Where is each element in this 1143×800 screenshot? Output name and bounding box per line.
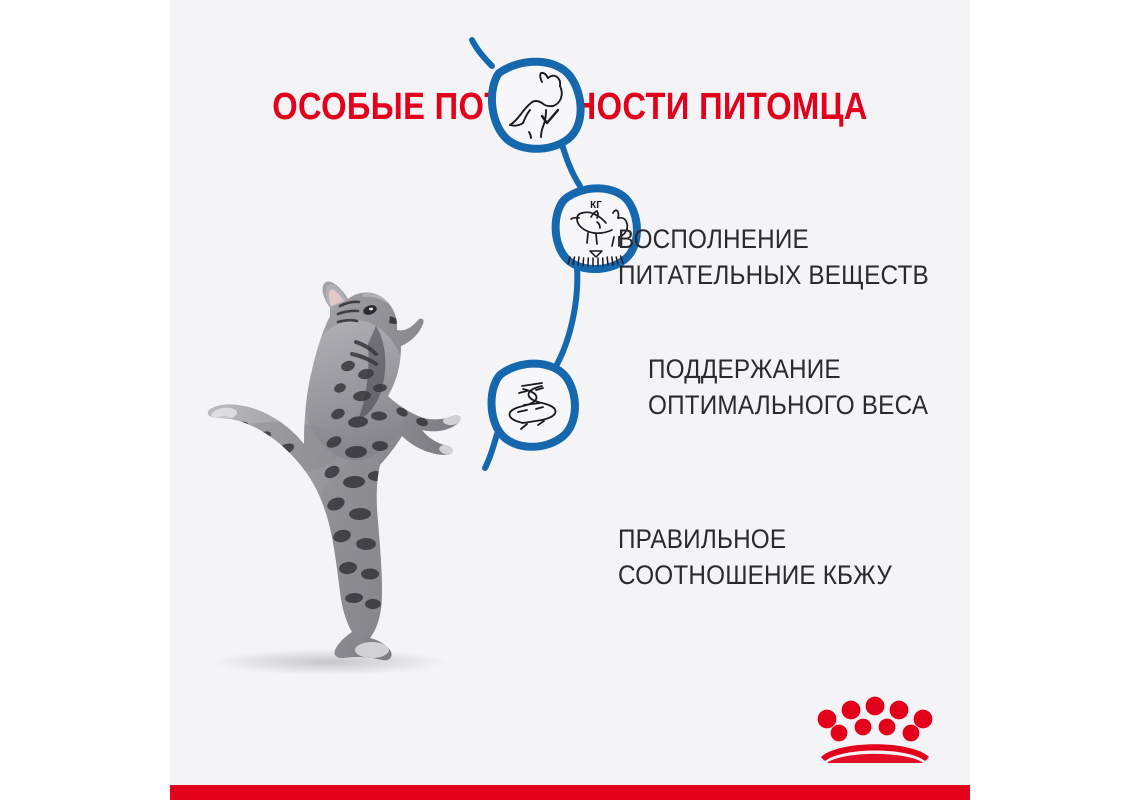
kg-caption: КГ xyxy=(590,200,602,211)
connector-1-2 xyxy=(561,141,580,186)
cat-photo xyxy=(180,270,530,690)
page-root: ОСОБЫЕ ПОТРЕБНОСТИ ПИТОМЦА xyxy=(0,0,1143,800)
page-title: ОСОБЫЕ ПОТРЕБНОСТИ ПИТОМЦА xyxy=(226,88,914,126)
feature-label-optimal-weight: ПОДДЕРЖАНИЕ ОПТИМАЛЬНОГО ВЕСА xyxy=(648,352,928,424)
connector-2-3 xyxy=(555,267,577,368)
feature-label-macronutrient-balance: ПРАВИЛЬНОЕ СООТНОШЕНИЕ КБЖУ xyxy=(618,522,892,594)
connector-top xyxy=(472,40,492,66)
feature-label-nutrient-replenishment: ВОСПОЛНЕНИЕ ПИТАТЕЛЬНЫХ ВЕЩЕСТВ xyxy=(618,222,929,294)
bottom-red-bar xyxy=(170,785,970,800)
royal-canin-crown-logo xyxy=(815,695,935,763)
creative-panel: ОСОБЫЕ ПОТРЕБНОСТИ ПИТОМЦА xyxy=(170,0,970,785)
